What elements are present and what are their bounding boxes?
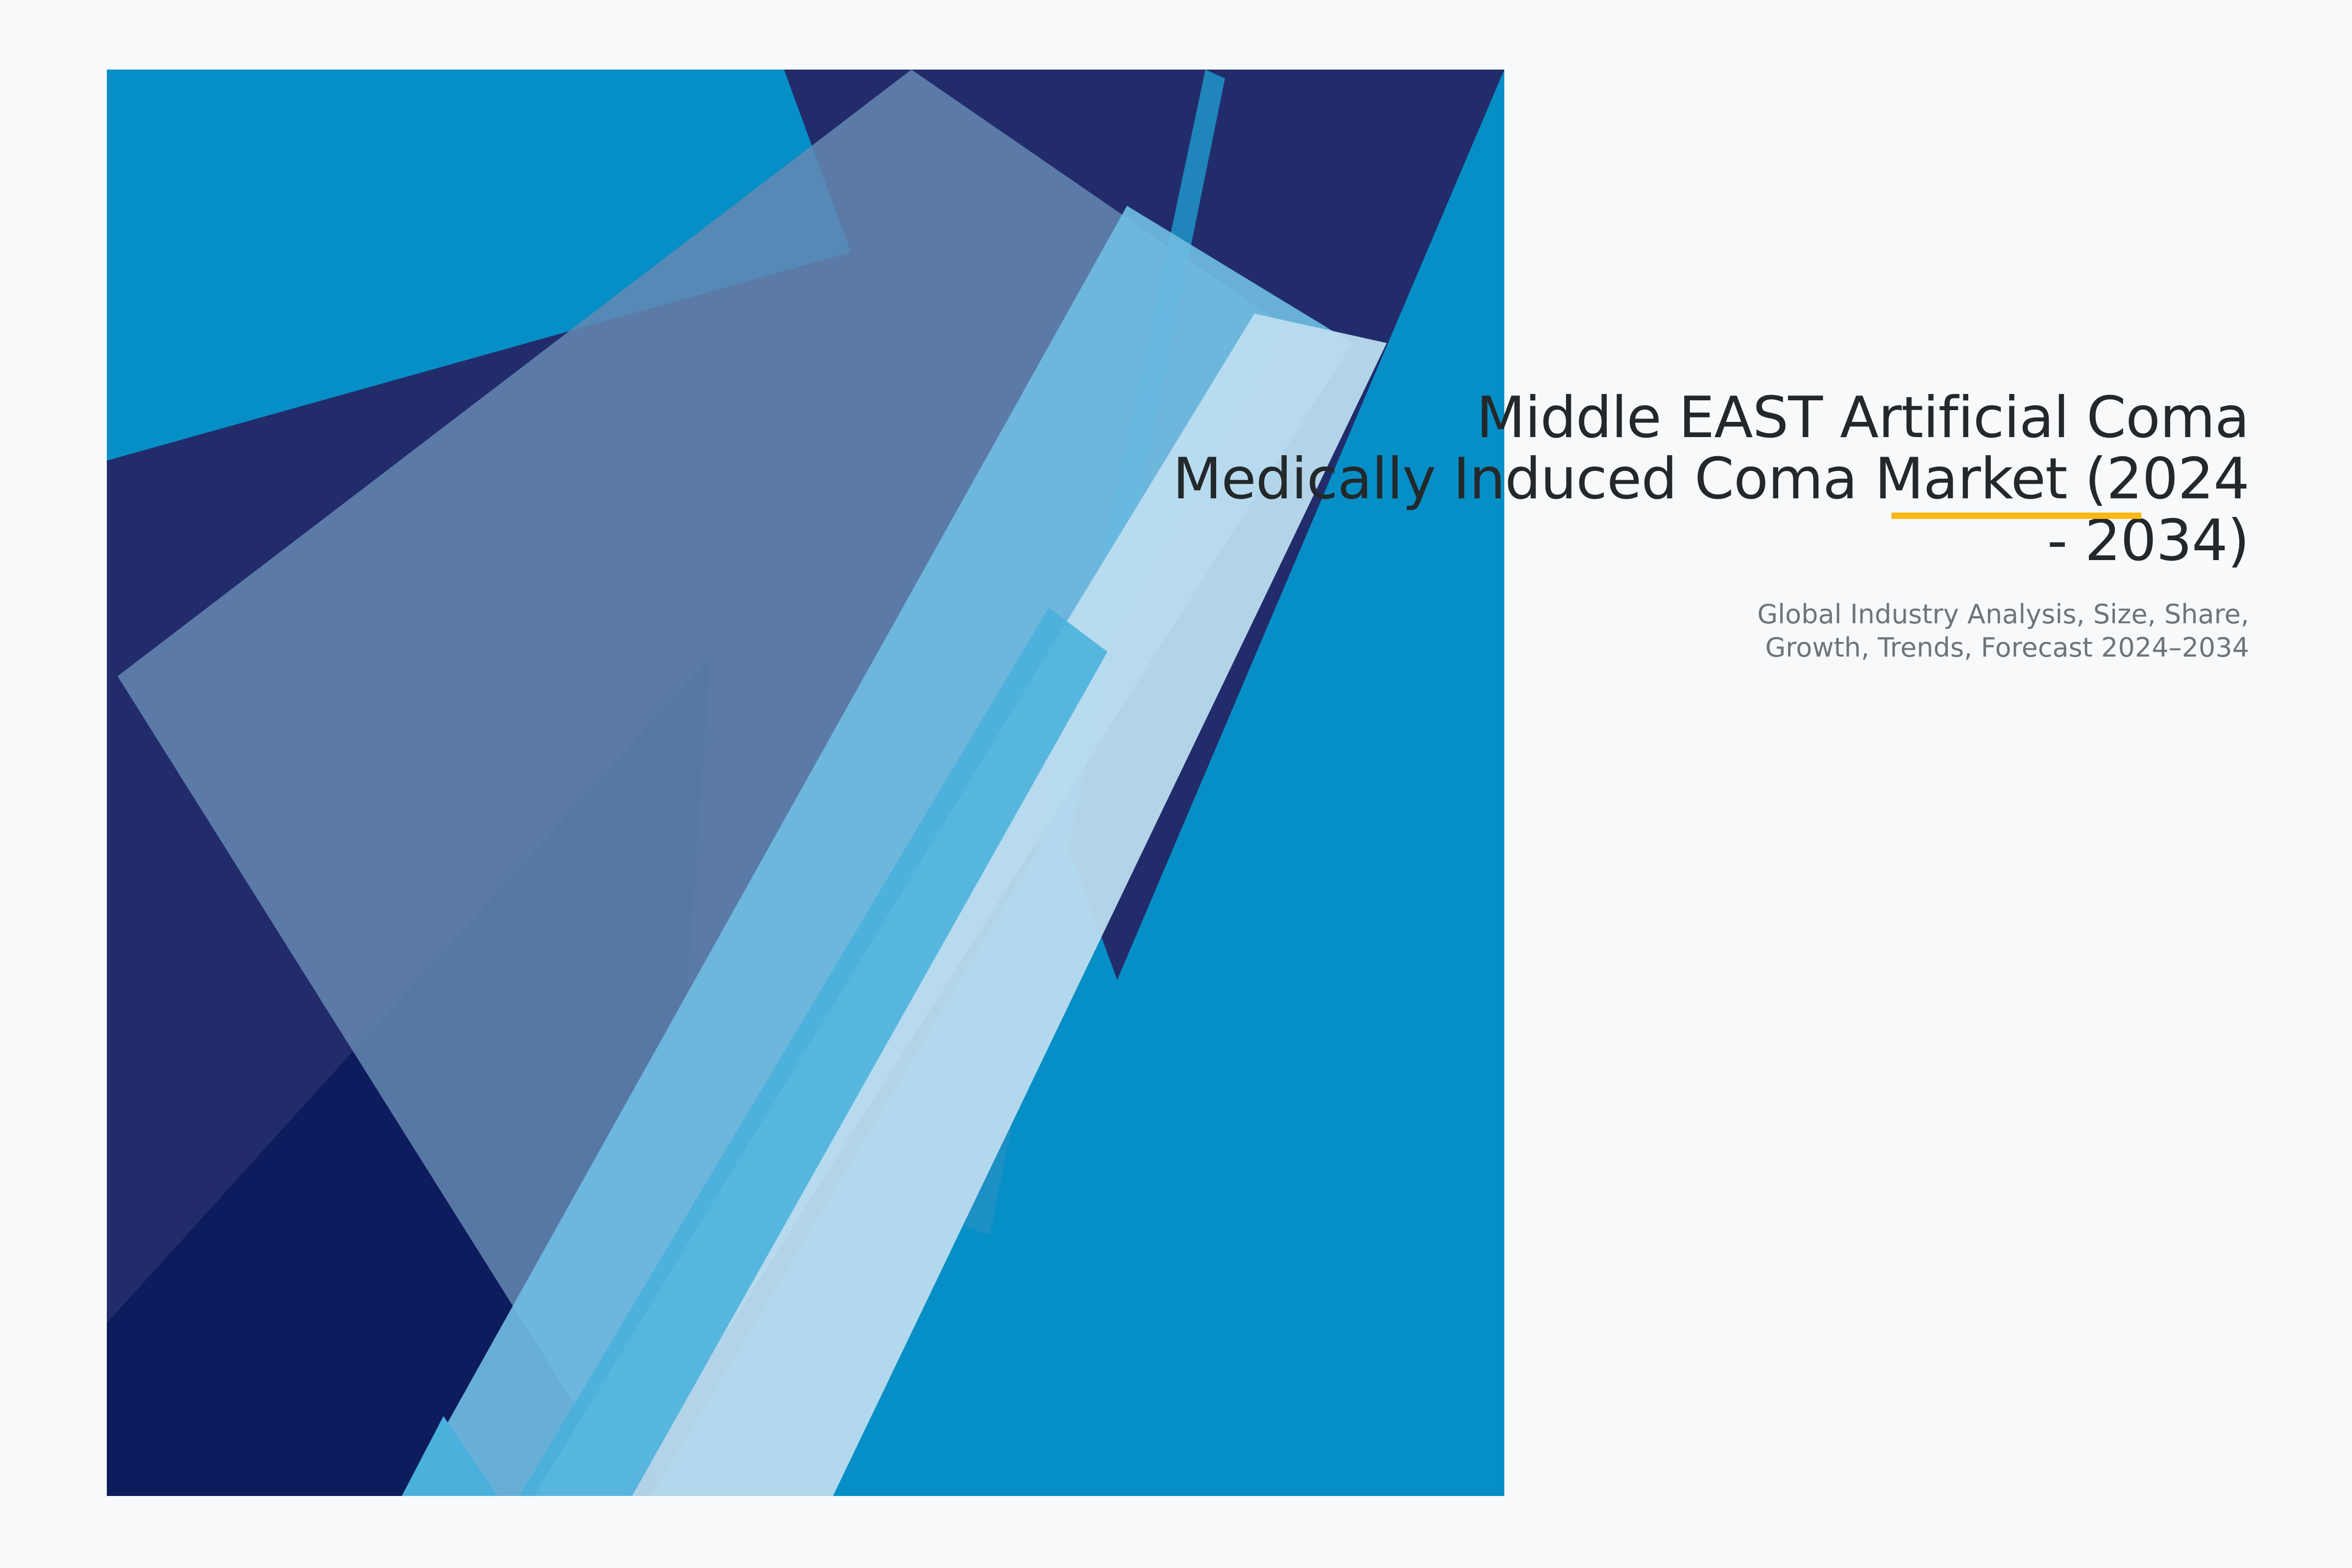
title-accent-underline <box>1891 513 2141 519</box>
artwork-shape-bottom-notch <box>402 1416 497 1496</box>
title-block: Middle EAST Artificial Coma Medically In… <box>1122 387 2249 664</box>
page-subtitle: Global Industry Analysis, Size, Share, G… <box>1122 571 2249 664</box>
cover-page: Middle EAST Artificial Coma Medically In… <box>0 0 2352 1568</box>
artwork-shape-mid-blue-beam <box>519 608 1107 1496</box>
page-title: Middle EAST Artificial Coma Medically In… <box>1122 387 2249 571</box>
artwork-shape-cyan-base <box>107 70 1504 1496</box>
artwork-shape-deep-navy-spike <box>107 657 710 1496</box>
artwork-shape-navy-wedge <box>107 70 1504 1496</box>
cover-artwork <box>0 0 2352 1568</box>
artwork-shape-slate-panel <box>118 70 1284 1496</box>
